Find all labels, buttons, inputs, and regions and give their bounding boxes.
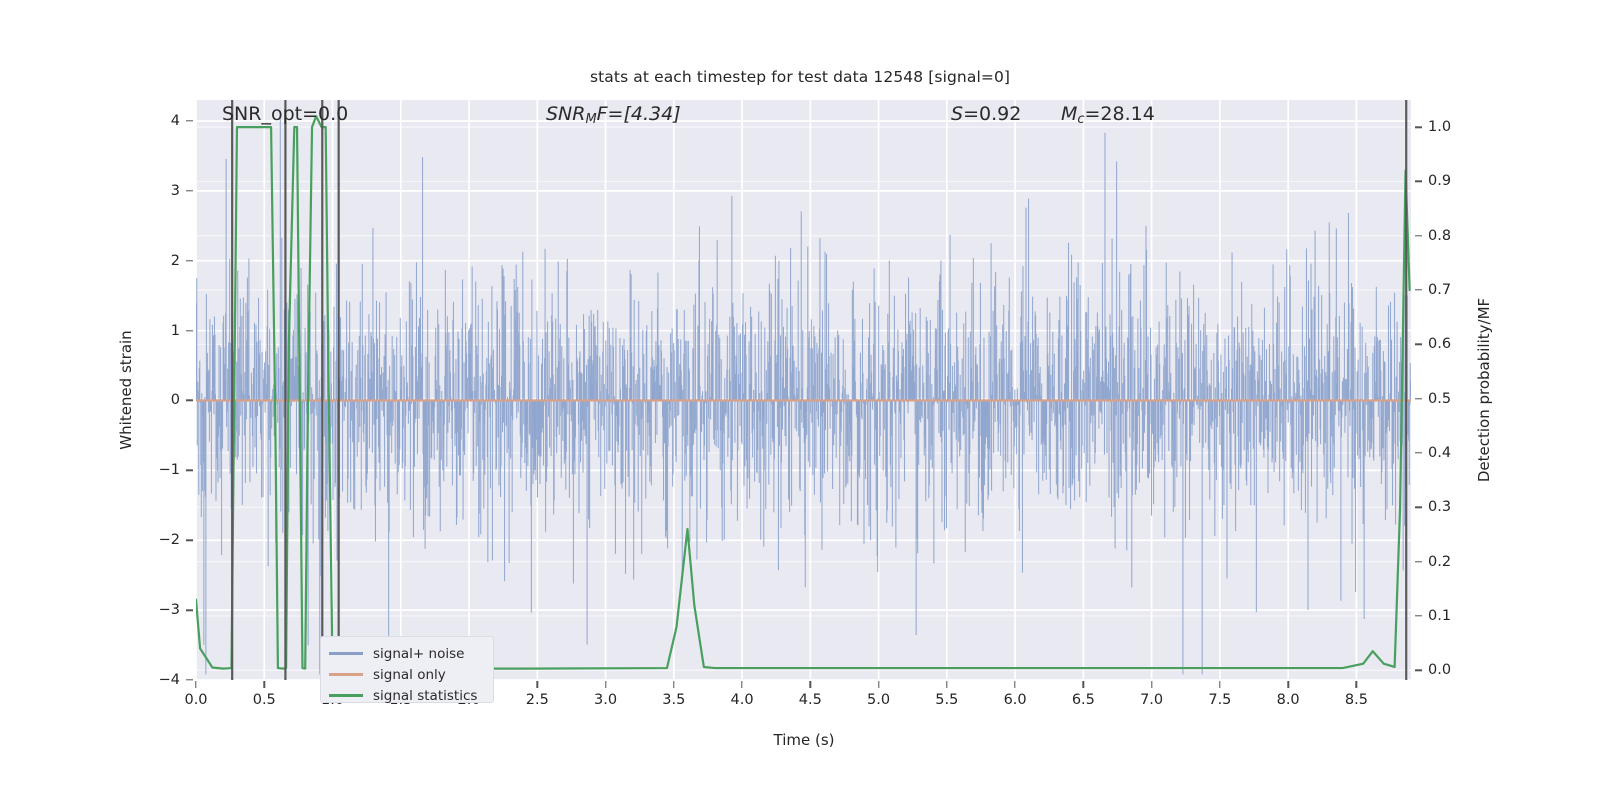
y-axis-right-tick-label: 0.6 <box>1428 336 1474 352</box>
y-axis-left-tick-label: −2 <box>134 532 180 548</box>
y-axis-left-tick-label: −3 <box>134 602 180 618</box>
x-axis-tick-mark <box>741 681 742 688</box>
x-axis-tick-label: 8.0 <box>1263 692 1313 708</box>
y-axis-right-tick-mark <box>1415 615 1422 616</box>
y-axis-left-label: Whitened strain <box>117 330 135 449</box>
y-axis-left-tick-mark <box>186 609 193 610</box>
legend-color-swatch <box>329 652 363 654</box>
x-axis-tick-label: 3.0 <box>581 692 631 708</box>
figure-canvas: stats at each timestep for test data 125… <box>0 0 1600 800</box>
annotation-s-post: =0.92 <box>963 103 1021 125</box>
annotation-mc-post: =28.14 <box>1085 103 1155 125</box>
annotation-mc-sub: c <box>1077 112 1084 127</box>
x-axis-tick-label: 4.0 <box>717 692 767 708</box>
x-axis-tick-label: 7.5 <box>1195 692 1245 708</box>
annotation-snr-opt: SNR_opt=0.0 <box>222 103 348 125</box>
y-axis-right-tick-label: 0.4 <box>1428 445 1474 461</box>
y-axis-left-tick-label: −4 <box>134 672 180 688</box>
annotation-snr-mf-post: F=[4.34] <box>597 103 681 125</box>
x-axis-tick-mark <box>1151 681 1152 688</box>
y-axis-right-tick-label: 0.8 <box>1428 228 1474 244</box>
x-axis-tick-label: 6.0 <box>990 692 1040 708</box>
x-axis-tick-label: 7.0 <box>1127 692 1177 708</box>
y-axis-left-tick-label: 2 <box>134 253 180 269</box>
annotation-snr-mf-pre: SNR <box>546 103 585 125</box>
legend-item[interactable]: signal+ noise <box>329 643 485 664</box>
x-axis-tick-mark <box>1356 681 1357 688</box>
plot-area: SNR_opt=0.0 SNRMF=[4.34] S=0.92 Mc=28.14 <box>196 100 1411 680</box>
x-axis-tick-mark <box>605 681 606 688</box>
y-axis-right-tick-label: 0.7 <box>1428 282 1474 298</box>
y-axis-right-tick-mark <box>1415 507 1422 508</box>
y-axis-right-tick-mark <box>1415 452 1422 453</box>
y-axis-left-tick-mark <box>186 400 193 401</box>
x-axis-tick-label: 4.5 <box>785 692 835 708</box>
annotation-snr-mf: SNRMF=[4.34] <box>546 103 681 127</box>
legend-item-label: signal+ noise <box>373 646 464 662</box>
x-axis-tick-mark <box>878 681 879 688</box>
x-axis-tick-label: 3.5 <box>649 692 699 708</box>
x-axis-tick-label: 8.5 <box>1331 692 1381 708</box>
y-axis-right-tick-mark <box>1415 670 1422 671</box>
y-axis-left-tick-mark <box>186 190 193 191</box>
legend-box[interactable]: signal+ noisesignal onlysignal statistic… <box>320 636 494 703</box>
x-axis-tick-mark <box>264 681 265 688</box>
y-axis-right-tick-mark <box>1415 344 1422 345</box>
legend-item-label: signal only <box>373 667 446 683</box>
legend-item[interactable]: signal statistics <box>329 685 485 706</box>
x-axis-tick-mark <box>1287 681 1288 688</box>
legend-color-swatch <box>329 673 363 675</box>
y-axis-right-tick-mark <box>1415 561 1422 562</box>
x-axis-tick-mark <box>673 681 674 688</box>
annotation-snr-mf-sub: M <box>585 112 596 127</box>
x-axis-label: Time (s) <box>774 731 835 749</box>
y-axis-right-tick-mark <box>1415 235 1422 236</box>
y-axis-left-tick-mark <box>186 120 193 121</box>
y-axis-right-tick-mark <box>1415 126 1422 127</box>
y-axis-left-tick-label: 0 <box>134 392 180 408</box>
y-axis-right-tick-mark <box>1415 289 1422 290</box>
legend-color-swatch <box>329 694 363 696</box>
x-axis-tick-mark <box>1219 681 1220 688</box>
y-axis-left-tick-mark <box>186 330 193 331</box>
y-axis-left-tick-mark <box>186 470 193 471</box>
y-axis-right-label: Detection probability/MF <box>1475 298 1493 482</box>
y-axis-left-tick-label: −1 <box>134 462 180 478</box>
x-axis-tick-mark <box>537 681 538 688</box>
y-axis-right-tick-mark <box>1415 181 1422 182</box>
x-axis-tick-mark <box>1083 681 1084 688</box>
x-axis-tick-mark <box>946 681 947 688</box>
y-axis-right-tick-label: 0.5 <box>1428 391 1474 407</box>
x-axis-tick-mark <box>810 681 811 688</box>
plot-svg <box>196 100 1411 680</box>
y-axis-left-tick-mark <box>186 540 193 541</box>
x-axis-tick-label: 6.5 <box>1058 692 1108 708</box>
chart-title: stats at each timestep for test data 125… <box>0 68 1600 86</box>
x-axis-tick-label: 0.5 <box>239 692 289 708</box>
y-axis-left-tick-label: 1 <box>134 323 180 339</box>
y-axis-left-tick-mark <box>186 260 193 261</box>
annotation-s: S=0.92 <box>951 103 1021 125</box>
y-axis-right-tick-label: 0.0 <box>1428 662 1474 678</box>
y-axis-right-tick-label: 0.9 <box>1428 173 1474 189</box>
y-axis-left-tick-label: 4 <box>134 113 180 129</box>
y-axis-right-tick-label: 0.2 <box>1428 554 1474 570</box>
x-axis-tick-mark <box>195 681 196 688</box>
x-axis-tick-mark <box>1014 681 1015 688</box>
x-axis-tick-label: 0.0 <box>171 692 221 708</box>
x-axis-tick-label: 5.0 <box>854 692 904 708</box>
legend-item[interactable]: signal only <box>329 664 485 685</box>
x-axis-tick-label: 5.5 <box>922 692 972 708</box>
annotation-mc: Mc=28.14 <box>1061 103 1155 127</box>
y-axis-right-tick-label: 1.0 <box>1428 119 1474 135</box>
y-axis-left-tick-mark <box>186 679 193 680</box>
annotation-mc-pre: M <box>1061 103 1077 125</box>
y-axis-right-tick-label: 0.3 <box>1428 499 1474 515</box>
y-axis-right-tick-mark <box>1415 398 1422 399</box>
x-axis-tick-label: 2.5 <box>512 692 562 708</box>
y-axis-left-tick-label: 3 <box>134 183 180 199</box>
y-axis-right-tick-label: 0.1 <box>1428 608 1474 624</box>
legend-item-label: signal statistics <box>373 688 477 704</box>
annotation-s-pre: S <box>951 103 963 125</box>
